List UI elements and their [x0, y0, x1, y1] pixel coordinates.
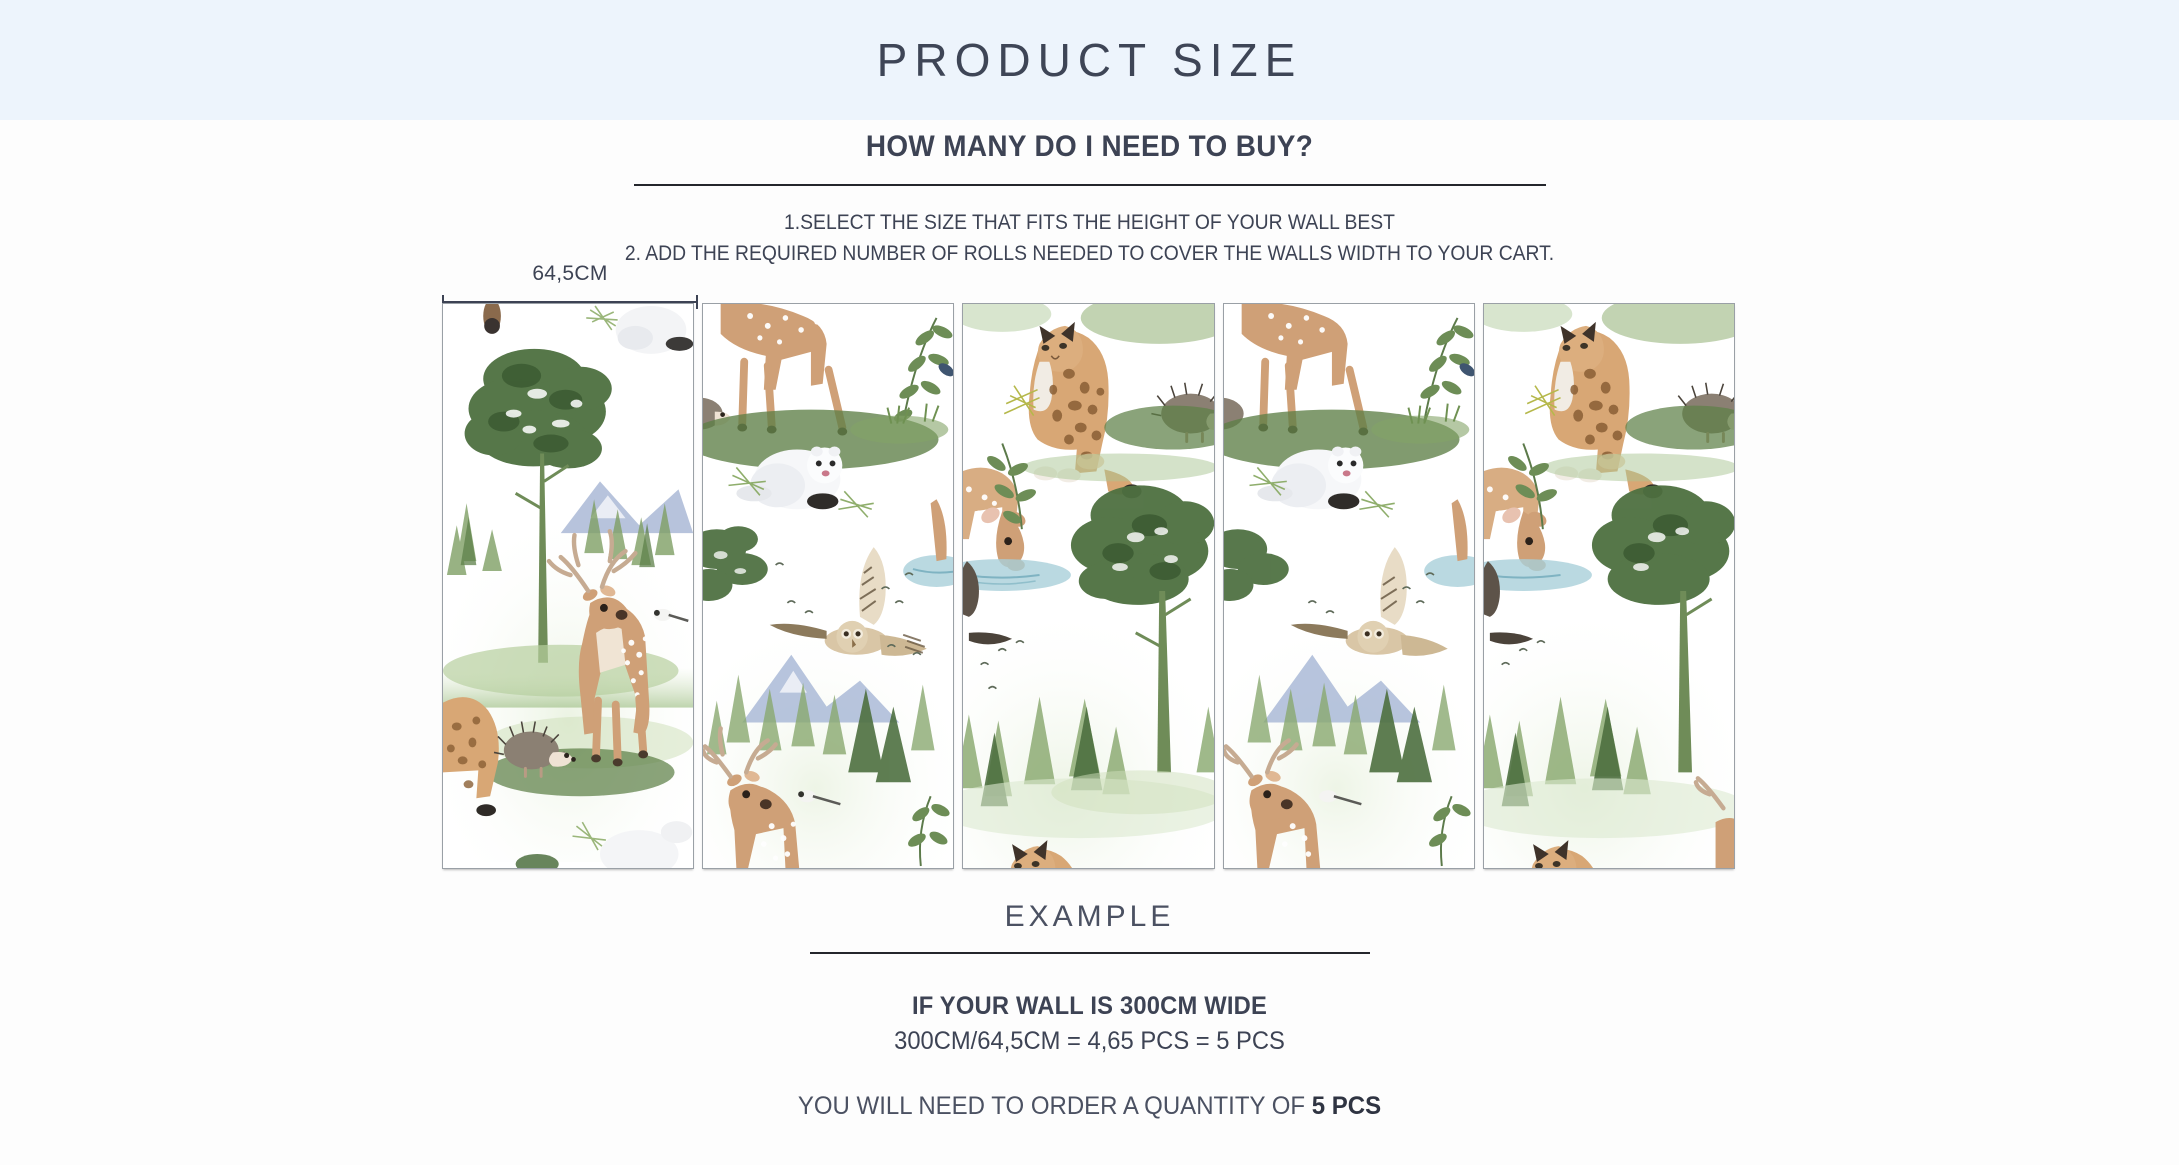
- example-calculation: 300CM/64,5CM = 4,65 PCS = 5 PCS: [54, 1027, 2124, 1056]
- intro-step-1: 1.SELECT THE SIZE THAT FITS THE HEIGHT O…: [87, 207, 2092, 238]
- roll-width-label: 64,5CM: [442, 262, 698, 286]
- wallpaper-panel-4[interactable]: [1223, 303, 1475, 869]
- example-conclusion-quantity: 5 PCS: [1312, 1092, 1381, 1120]
- roll-width-dimension: 64,5CM: [442, 262, 698, 309]
- intro-steps: 1.SELECT THE SIZE THAT FITS THE HEIGHT O…: [0, 207, 2179, 269]
- example-wall-width: IF YOUR WALL IS 300CM WIDE: [54, 992, 2124, 1021]
- heading-divider: [634, 184, 1546, 186]
- example-conclusion: YOU WILL NEED TO ORDER A QUANTITY OF 5 P…: [44, 1092, 2136, 1121]
- page-title: PRODUCT SIZE: [877, 33, 1303, 87]
- product-size-page: PRODUCT SIZE HOW MANY DO I NEED TO BUY? …: [0, 0, 2179, 1165]
- example-divider: [810, 952, 1370, 954]
- forest-pattern-art: [703, 304, 953, 868]
- wallpaper-panel-5[interactable]: [1483, 303, 1735, 869]
- wallpaper-panel-1[interactable]: [442, 303, 694, 869]
- forest-pattern-art: [443, 304, 693, 868]
- intro-step-2: 2. ADD THE REQUIRED NUMBER OF ROLLS NEED…: [87, 238, 2092, 269]
- intro-section: HOW MANY DO I NEED TO BUY? 1.SELECT THE …: [0, 130, 2179, 269]
- wallpaper-panel-2[interactable]: [702, 303, 954, 869]
- wallpaper-panel-3[interactable]: [962, 303, 1214, 869]
- example-body: IF YOUR WALL IS 300CM WIDE 300CM/64,5CM …: [0, 992, 2179, 1121]
- example-section: EXAMPLE IF YOUR WALL IS 300CM WIDE 300CM…: [0, 900, 2179, 1121]
- example-conclusion-prefix: YOU WILL NEED TO ORDER A QUANTITY OF: [798, 1092, 1312, 1120]
- header-band: PRODUCT SIZE: [0, 0, 2179, 120]
- forest-pattern-art: [1224, 304, 1474, 868]
- intro-heading: HOW MANY DO I NEED TO BUY?: [76, 130, 2102, 164]
- forest-pattern-art: [1484, 304, 1734, 868]
- wallpaper-preview-strip: [442, 303, 1735, 869]
- example-title: EXAMPLE: [0, 900, 2179, 934]
- forest-pattern-art: [963, 304, 1213, 868]
